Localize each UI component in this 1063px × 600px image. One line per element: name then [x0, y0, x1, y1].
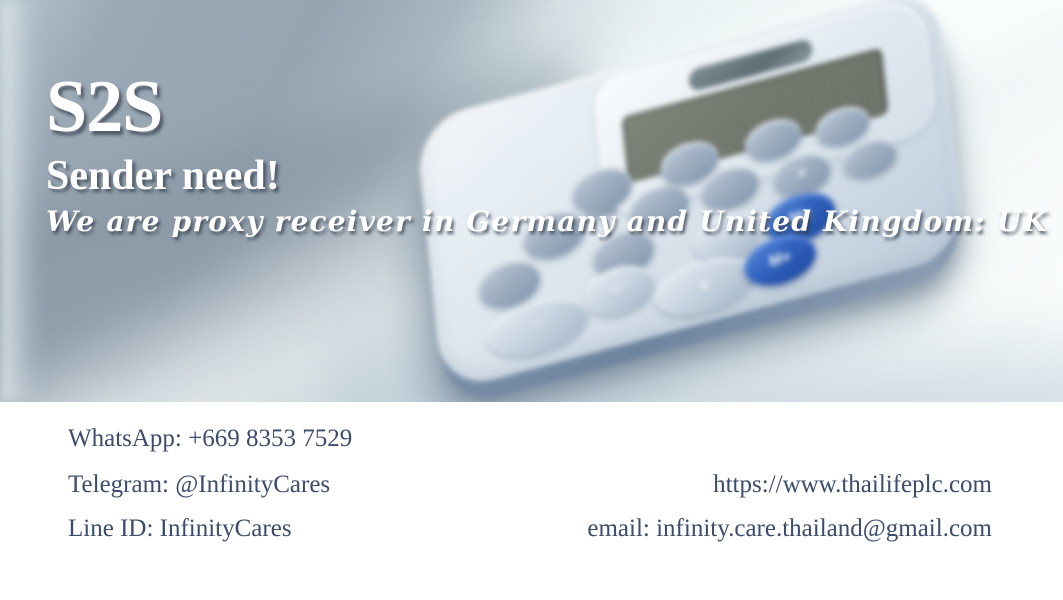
contact-website[interactable]: https://www.thailifeplc.com: [0, 472, 992, 497]
contact-whatsapp[interactable]: WhatsApp: +669 8353 7529: [68, 426, 352, 451]
contact-footer: WhatsApp: +669 8353 7529 Telegram: @Infi…: [0, 402, 1063, 600]
brand-title: S2S: [46, 70, 162, 144]
contact-email[interactable]: email: infinity.care.thailand@gmail.com: [0, 516, 992, 541]
hero-text-block: S2S Sender need! We are proxy receiver i…: [0, 0, 1063, 402]
hero-subhead: Sender need!: [46, 155, 280, 197]
hero-tagline: We are proxy receiver in Germany and Uni…: [46, 207, 1048, 238]
business-card: × − +/− = + M× M+ S2S Sender need! We ar…: [0, 0, 1063, 600]
hero-photo-banner: × − +/− = + M× M+ S2S Sender need! We ar…: [0, 0, 1063, 402]
